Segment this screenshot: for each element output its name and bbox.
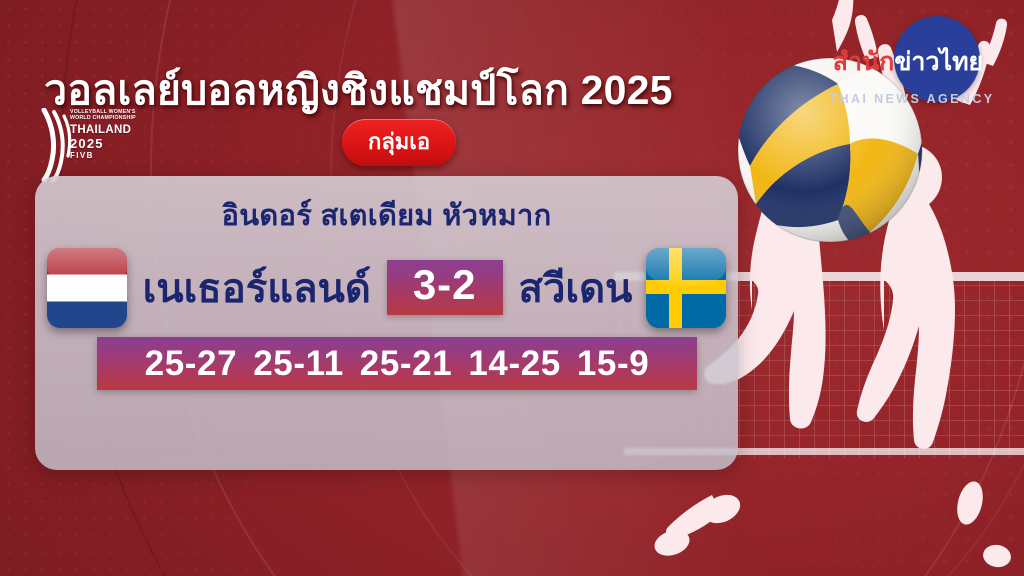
fivb-emblem-icon	[38, 108, 72, 182]
set-score: 25-11	[245, 344, 352, 384]
broadcaster-thai-word-1: สำนัก	[833, 48, 895, 76]
sweden-cross-horizontal	[646, 280, 726, 294]
event-logo: VOLLEYBALL WOMEN'S WORLD CHAMPIONSHIP TH…	[38, 106, 146, 184]
sweden-flag-icon	[646, 248, 726, 328]
graphic-canvas: วอลเลย์บอลหญิงชิงแชมป์โลก 2025 กลุ่มเอ V…	[0, 0, 1024, 576]
venue-label: อินดอร์ สเตเดียม หัวหมาก	[35, 192, 738, 238]
group-badge: กลุ่มเอ	[342, 119, 456, 166]
broadcaster-thai-word-2: ข่าวไทย	[894, 48, 983, 76]
netherlands-flag-icon	[47, 248, 127, 328]
broadcaster-logo: สำนักข่าวไทย THAI NEWS AGENCY	[818, 10, 1008, 114]
broadcaster-english-name: THAI NEWS AGENCY	[820, 92, 1004, 106]
match-score: 3-2	[387, 260, 503, 315]
event-logo-line2: WORLD CHAMPIONSHIP	[70, 116, 136, 122]
set-score: 14-25	[460, 344, 569, 384]
event-logo-year: 2025	[70, 137, 136, 152]
set-scores-bar: 25-2725-1125-2114-2515-9	[97, 337, 697, 390]
set-score: 15-9	[569, 344, 657, 384]
home-team-name: เนเธอร์แลนด์	[137, 256, 377, 320]
set-score: 25-21	[352, 344, 461, 384]
event-logo-federation: FIVB	[70, 152, 136, 161]
set-score: 25-27	[137, 344, 246, 384]
away-team-name: สวีเดน	[513, 256, 639, 320]
match-result-row: เนเธอร์แลนด์ 3-2 สวีเดน	[35, 240, 738, 335]
broadcaster-thai-name: สำนักข่าวไทย	[816, 42, 1000, 82]
event-logo-country: THAILAND	[70, 124, 136, 137]
